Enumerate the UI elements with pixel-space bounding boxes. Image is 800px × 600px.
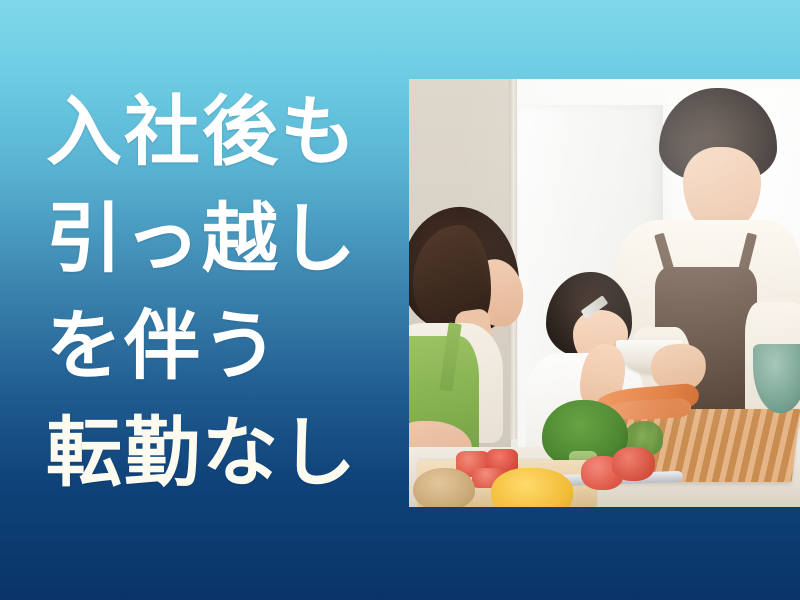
recruitment-banner: 入社後も 引っ越し を伴う 転勤なし: [0, 0, 800, 600]
headline-block: 入社後も 引っ越し を伴う 転勤なし: [46, 78, 396, 506]
headline-line-3: を伴う: [46, 292, 396, 399]
headline-line-1: 入社後も: [46, 78, 396, 185]
headline-line-4: 転勤なし: [46, 399, 396, 506]
headline-line-2: 引っ越し: [46, 185, 396, 292]
potato: [413, 468, 476, 507]
tomato-whole-2: [612, 447, 655, 481]
yellow-bell-pepper: [491, 468, 573, 507]
family-kitchen-photo: [409, 79, 800, 507]
